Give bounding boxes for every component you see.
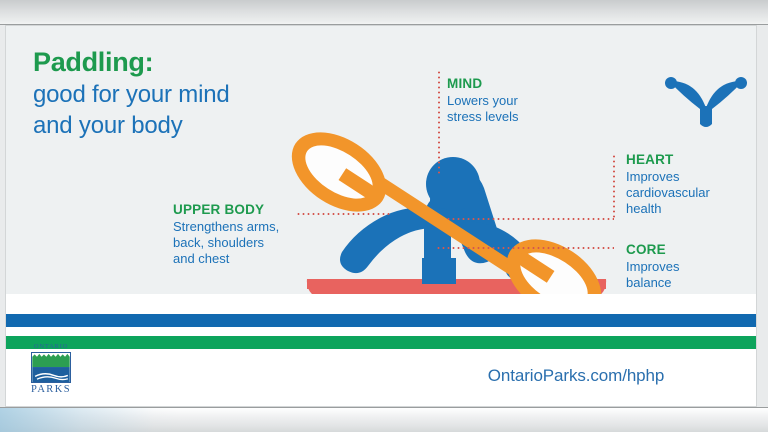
- logo-treeline-water-icon: [32, 353, 70, 382]
- title-line-2: good for your mind: [33, 79, 363, 110]
- callout-core-heading: CORE: [626, 242, 756, 259]
- callout-upper-body-line-1: Strengthens arms,: [173, 219, 333, 235]
- accent-bar-blue: [6, 314, 757, 327]
- ontario-parks-logo: ONTARIO PARKS: [27, 344, 75, 395]
- poster-title: Paddling: good for your mind and your bo…: [33, 47, 363, 141]
- title-line-1: Paddling:: [33, 47, 363, 79]
- callout-mind: MIND Lowers your stress levels: [447, 76, 577, 125]
- window-chrome-bottom-band: [0, 407, 768, 432]
- window-chrome-top-band: [0, 0, 768, 25]
- title-line-3: and your body: [33, 110, 363, 141]
- callout-heart: HEART Improves cardiovascular health: [626, 152, 756, 217]
- callout-upper-body-line-3: and chest: [173, 251, 333, 267]
- callout-upper-body-heading: UPPER BODY: [173, 202, 333, 219]
- connector-line-heart-riser: [613, 154, 615, 220]
- connector-line-mind: [438, 70, 440, 174]
- callout-upper-body: UPPER BODY Strengthens arms, back, shoul…: [173, 202, 333, 267]
- logo-word-parks: PARKS: [27, 385, 75, 396]
- callout-heart-heading: HEART: [626, 152, 756, 169]
- accent-bar-green: [6, 336, 757, 349]
- connector-line-core: [436, 247, 614, 249]
- callout-core: CORE Improves balance: [626, 242, 756, 291]
- callout-heart-line-1: Improves: [626, 169, 756, 185]
- poster-url[interactable]: OntarioParks.com/hphp: [416, 366, 736, 386]
- callout-mind-line-1: Lowers your: [447, 93, 577, 109]
- callout-core-line-2: balance: [626, 275, 756, 291]
- callout-upper-body-line-2: back, shoulders: [173, 235, 333, 251]
- screenshot-root: Paddling: good for your mind and your bo…: [0, 0, 768, 432]
- callout-core-line-1: Improves: [626, 259, 756, 275]
- callout-mind-line-2: stress levels: [447, 109, 577, 125]
- callout-heart-line-2: cardiovascular: [626, 185, 756, 201]
- loon-wing-mark-icon: [665, 77, 747, 127]
- logo-mark-icon: [31, 352, 71, 383]
- callout-heart-line-3: health: [626, 201, 756, 217]
- logo-word-ontario: ONTARIO: [27, 344, 75, 351]
- window-chrome-right-edge: [757, 25, 768, 407]
- connector-line-heart: [446, 218, 614, 220]
- callout-mind-heading: MIND: [447, 76, 577, 93]
- infographic-poster: Paddling: good for your mind and your bo…: [5, 25, 757, 407]
